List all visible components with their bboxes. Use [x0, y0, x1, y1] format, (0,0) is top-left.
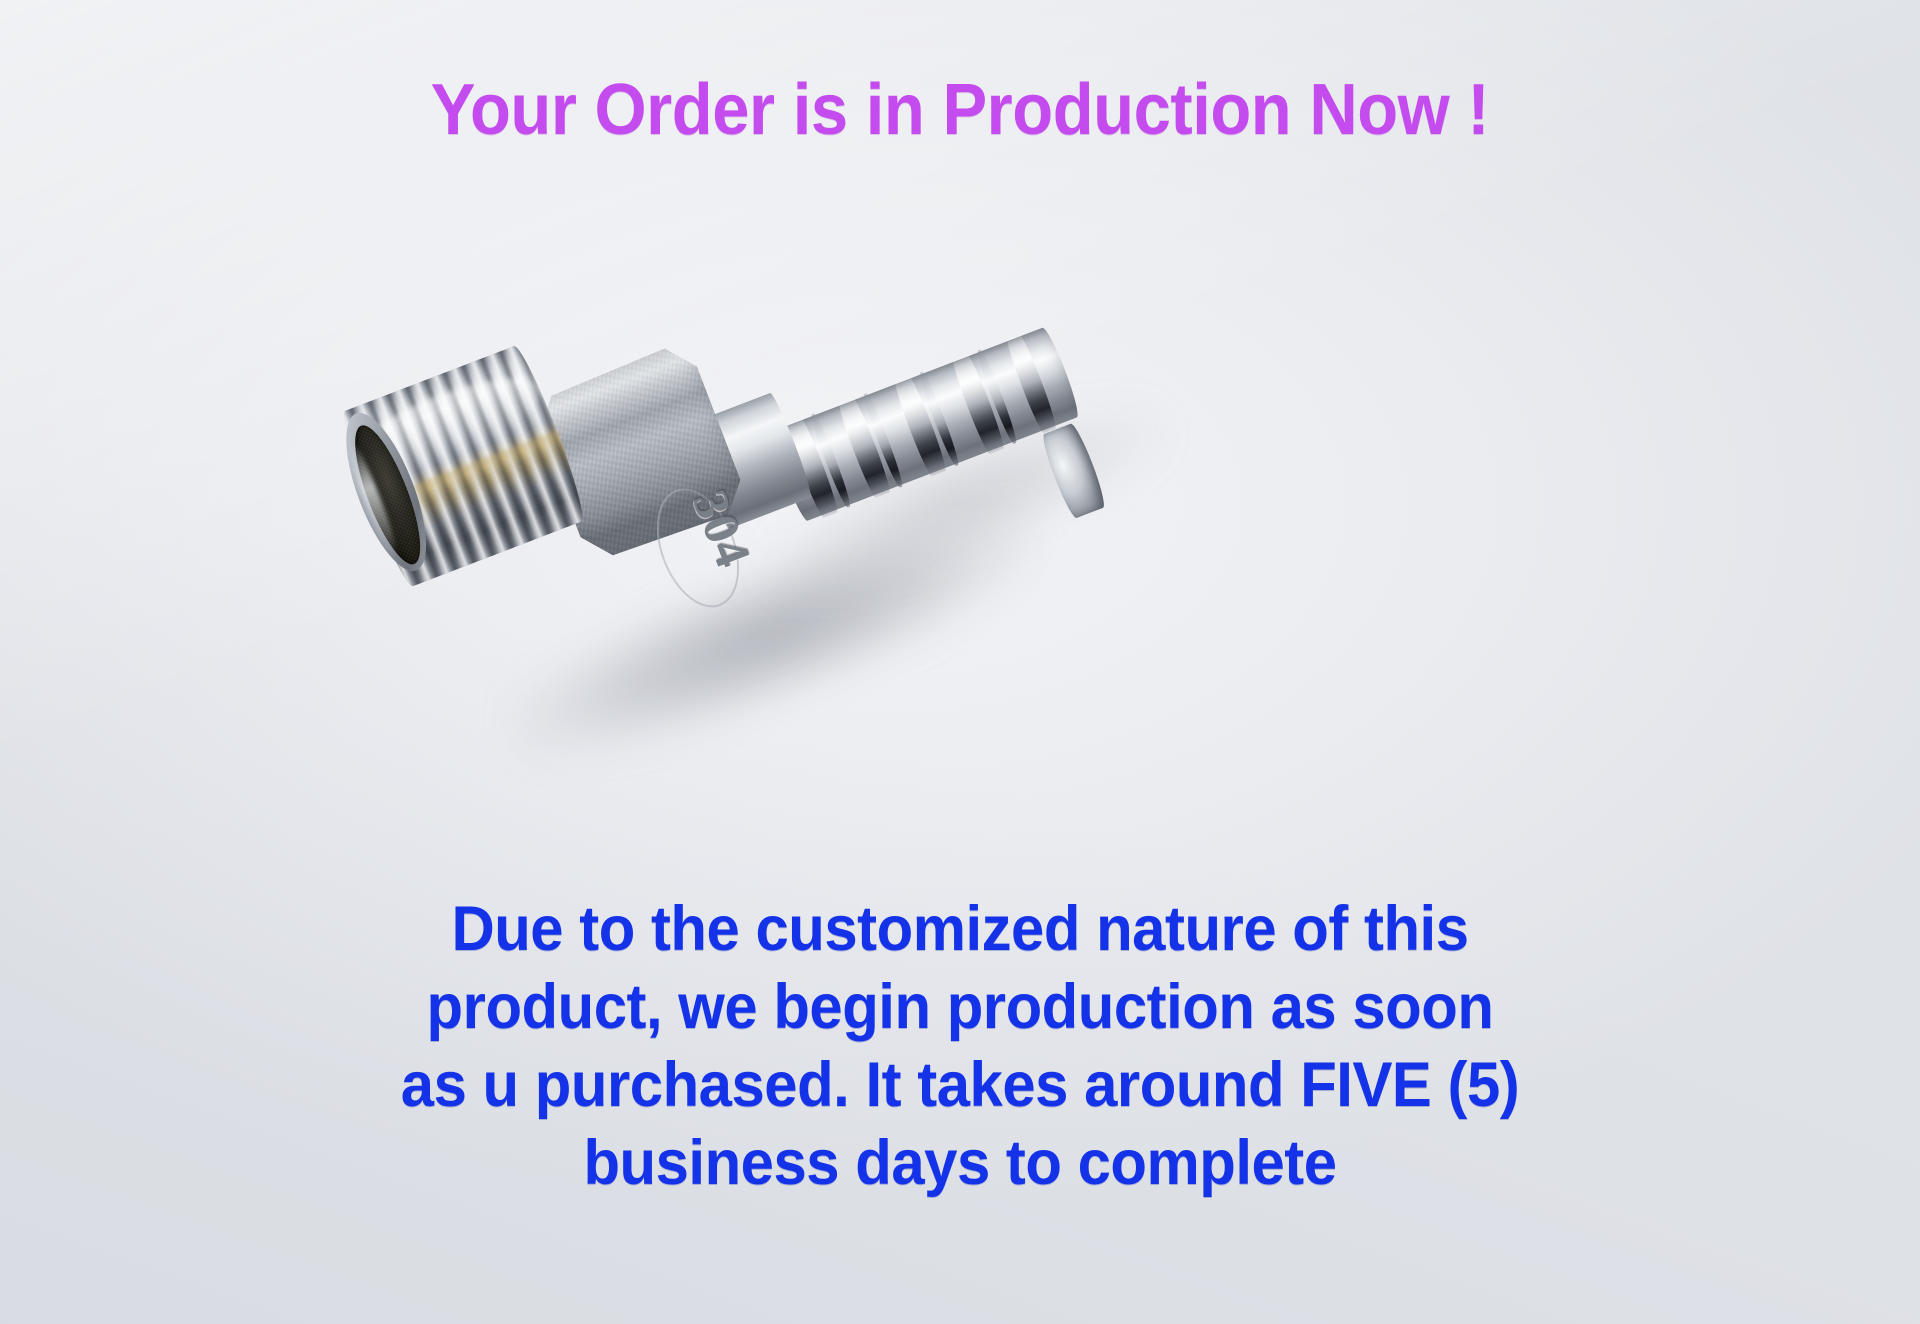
notice-line: business days to complete	[48, 1124, 1872, 1202]
barb-ridge	[1004, 332, 1059, 434]
page-title: Your Order is in Production Now !	[67, 74, 1853, 146]
notice-line: product, we begin production as soon	[48, 968, 1872, 1046]
product-photo: 304	[455, 300, 1145, 750]
notice-line: as u purchased. It takes around FIVE (5)	[48, 1046, 1872, 1124]
notice-line: Due to the customized nature of this	[48, 890, 1872, 968]
promo-banner: Your Order is in Production Now ! 304	[0, 0, 1920, 1324]
production-notice: Due to the customized nature of this pro…	[48, 890, 1872, 1202]
